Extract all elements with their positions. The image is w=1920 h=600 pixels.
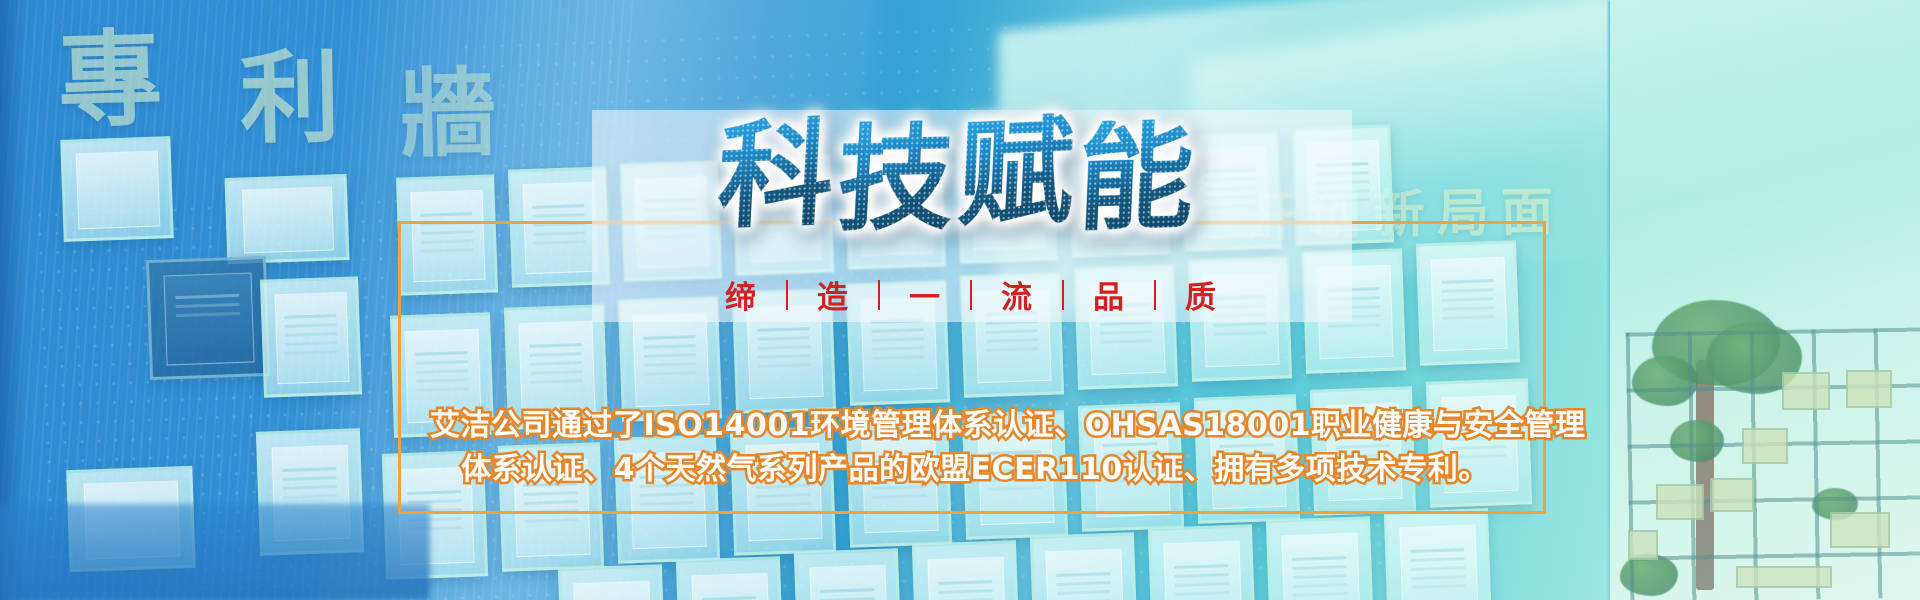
subtitle-character-3: 一 bbox=[902, 272, 948, 317]
title-character-4: 能 bbox=[1075, 118, 1196, 237]
subtitle-separator bbox=[878, 280, 880, 310]
subtitle-separator bbox=[786, 280, 788, 310]
subtitle-character-5: 品 bbox=[1086, 272, 1132, 317]
body-paragraph: 艾洁公司通过了ISO14001环境管理体系认证、OHSAS18001职业健康与安… bbox=[430, 404, 1520, 492]
subtitle-character-2: 造 bbox=[810, 272, 856, 317]
body-line-1: 艾洁公司通过了ISO14001环境管理体系认证、OHSAS18001职业健康与安… bbox=[430, 404, 1520, 448]
subtitle-character-6: 质 bbox=[1178, 272, 1224, 317]
subtitle-separator bbox=[1154, 280, 1156, 310]
subtitle-row: 缔 造 一 流 品 质 bbox=[718, 272, 1278, 317]
body-line-2: 体系认证、4个天然气系列产品的欧盟ECER110认证、拥有多项技术专利。 bbox=[430, 448, 1520, 492]
subtitle-character-4: 流 bbox=[994, 272, 1040, 317]
title-character-1: 科 bbox=[715, 115, 837, 235]
title-character-2: 技 bbox=[835, 120, 957, 238]
banner-stage: 專 利 牆 开创新局面 bbox=[0, 0, 1920, 600]
subtitle-separator bbox=[1062, 280, 1064, 310]
subtitle-separator bbox=[970, 280, 972, 310]
main-title: 科 技 赋 能 bbox=[718, 110, 1378, 240]
title-character-3: 赋 bbox=[956, 112, 1077, 233]
subtitle-character-1: 缔 bbox=[718, 272, 764, 317]
